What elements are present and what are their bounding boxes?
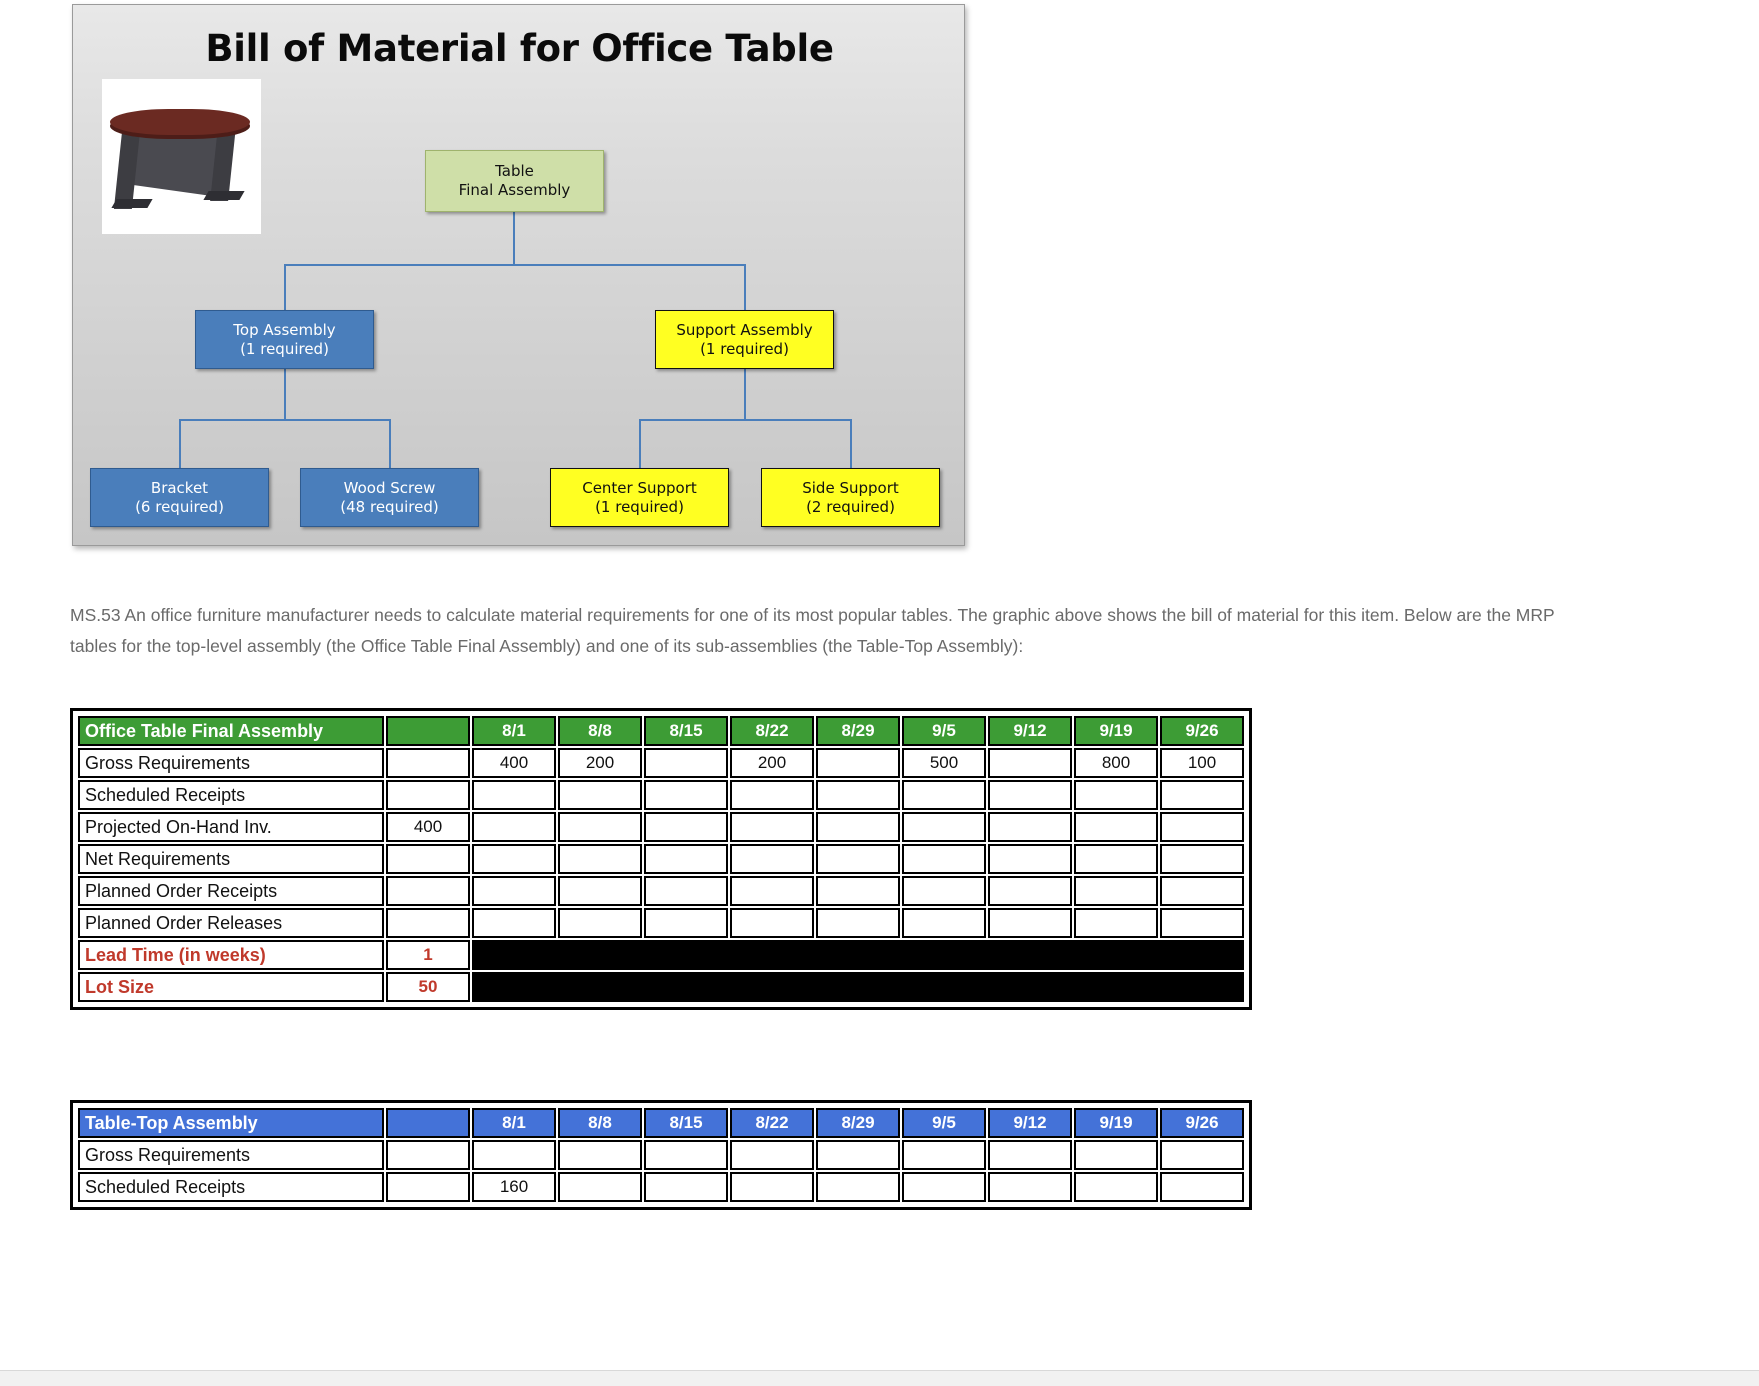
mrp-cell-prior[interactable]	[386, 876, 470, 906]
mrp-cell-9-19[interactable]	[1074, 812, 1158, 842]
node-label-line1: Table	[495, 162, 534, 181]
mrp-cell-prior[interactable]: 400	[386, 812, 470, 842]
mrp-cell-9-19[interactable]	[1074, 908, 1158, 938]
mrp-header-period-9-5: 9/5	[902, 1108, 986, 1138]
node-label-line1: Center Support	[582, 479, 697, 498]
table-photo-top	[110, 109, 250, 135]
mrp-cell-9-5[interactable]: 500	[902, 748, 986, 778]
office-table-photo	[102, 79, 261, 234]
bom-title: Bill of Material for Office Table	[73, 27, 966, 70]
node-label-line2: (6 required)	[135, 498, 224, 517]
mrp-cell-8-8[interactable]: 200	[558, 748, 642, 778]
mrp-cell-9-19[interactable]	[1074, 1172, 1158, 1202]
mrp-cell-9-12[interactable]	[988, 876, 1072, 906]
mrp-blackout-cell	[472, 940, 1244, 970]
node-label-line2: (48 required)	[340, 498, 438, 517]
mrp-header-row: Office Table Final Assembly8/18/88/158/2…	[78, 716, 1244, 746]
mrp-header-period-8-1: 8/1	[472, 1108, 556, 1138]
mrp-cell-9-5[interactable]	[902, 1172, 986, 1202]
bom-diagram-panel: Bill of Material for Office Table Table …	[72, 4, 965, 546]
mrp-cell-9-5[interactable]	[902, 1140, 986, 1170]
mrp-header-period-8-29: 8/29	[816, 1108, 900, 1138]
mrp-row-label: Planned Order Receipts	[78, 876, 384, 906]
mrp-grid: Table-Top Assembly8/18/88/158/228/299/59…	[76, 1106, 1246, 1204]
mrp-cell-8-22[interactable]	[730, 844, 814, 874]
mrp-cell-8-15[interactable]	[644, 1172, 728, 1202]
mrp-cell-9-26[interactable]	[1160, 1140, 1244, 1170]
node-bracket[interactable]: Bracket (6 required)	[90, 468, 269, 527]
node-label-line1: Top Assembly	[233, 321, 335, 340]
mrp-cell-prior[interactable]	[386, 1140, 470, 1170]
mrp-cell-8-29[interactable]	[816, 780, 900, 810]
mrp-cell-9-26[interactable]: 100	[1160, 748, 1244, 778]
mrp-header-period-8-1: 8/1	[472, 716, 556, 746]
mrp-cell-8-15[interactable]	[644, 1140, 728, 1170]
mrp-cell-8-29[interactable]	[816, 1172, 900, 1202]
mrp-param-value[interactable]: 1	[386, 940, 470, 970]
mrp-cell-8-22[interactable]	[730, 1140, 814, 1170]
mrp-cell-9-12[interactable]	[988, 844, 1072, 874]
connector-to-side-support	[850, 419, 852, 469]
mrp-param-row: Lot Size50	[78, 972, 1244, 1002]
mrp-cell-8-29[interactable]	[816, 908, 900, 938]
connector-top-assembly-down	[284, 368, 286, 420]
mrp-header-period-9-19: 9/19	[1074, 716, 1158, 746]
mrp-row: Planned Order Releases	[78, 908, 1244, 938]
connector-root-down	[513, 211, 515, 265]
mrp-header-period-9-12: 9/12	[988, 1108, 1072, 1138]
connector-support-children-bar	[639, 419, 850, 421]
mrp-param-value[interactable]: 50	[386, 972, 470, 1002]
mrp-cell-8-22[interactable]	[730, 780, 814, 810]
mrp-cell-8-8[interactable]	[558, 812, 642, 842]
node-label-line1: Wood Screw	[344, 479, 436, 498]
mrp-param-row: Lead Time (in weeks)1	[78, 940, 1244, 970]
problem-statement: MS.53 An office furniture manufacturer n…	[70, 600, 1560, 662]
mrp-header-period-8-29: 8/29	[816, 716, 900, 746]
mrp-cell-9-26[interactable]	[1160, 1172, 1244, 1202]
mrp-row: Projected On-Hand Inv.400	[78, 812, 1244, 842]
connector-support-assembly-down	[744, 368, 746, 420]
mrp-header-period-8-15: 8/15	[644, 1108, 728, 1138]
mrp-cell-9-26[interactable]	[1160, 876, 1244, 906]
mrp-cell-prior[interactable]	[386, 844, 470, 874]
mrp-cell-prior[interactable]	[386, 1172, 470, 1202]
mrp-row: Gross Requirements	[78, 1140, 1244, 1170]
node-label-line1: Bracket	[151, 479, 208, 498]
mrp-cell-8-29[interactable]	[816, 844, 900, 874]
connector-to-center-support	[639, 419, 641, 469]
mrp-cell-8-29[interactable]	[816, 1140, 900, 1170]
node-wood-screw[interactable]: Wood Screw (48 required)	[300, 468, 479, 527]
mrp-cell-8-15[interactable]	[644, 876, 728, 906]
mrp-grid: Office Table Final Assembly8/18/88/158/2…	[76, 714, 1246, 1004]
mrp-cell-9-5[interactable]	[902, 844, 986, 874]
mrp-cell-8-8[interactable]	[558, 780, 642, 810]
mrp-header-period-9-19: 9/19	[1074, 1108, 1158, 1138]
connector-to-support-assembly	[744, 264, 746, 312]
mrp-cell-8-1[interactable]	[472, 780, 556, 810]
mrp-cell-8-29[interactable]	[816, 812, 900, 842]
mrp-row: Scheduled Receipts160	[78, 1172, 1244, 1202]
mrp-cell-prior[interactable]	[386, 908, 470, 938]
mrp-cell-8-15[interactable]	[644, 780, 728, 810]
mrp-cell-8-22[interactable]	[730, 876, 814, 906]
mrp-cell-9-5[interactable]	[902, 812, 986, 842]
mrp-header-row: Table-Top Assembly8/18/88/158/228/299/59…	[78, 1108, 1244, 1138]
mrp-row: Net Requirements	[78, 844, 1244, 874]
mrp-cell-8-15[interactable]	[644, 812, 728, 842]
mrp-table-table-top-assembly: Table-Top Assembly8/18/88/158/228/299/59…	[70, 1100, 1252, 1210]
node-label-line2: (2 required)	[806, 498, 895, 517]
mrp-header-period-8-22: 8/22	[730, 1108, 814, 1138]
mrp-cell-8-22[interactable]: 200	[730, 748, 814, 778]
mrp-table-final-assembly: Office Table Final Assembly8/18/88/158/2…	[70, 708, 1252, 1010]
mrp-row: Gross Requirements400200200500800100	[78, 748, 1244, 778]
node-center-support[interactable]: Center Support (1 required)	[550, 468, 729, 527]
table-photo-foot-right	[203, 191, 244, 200]
mrp-cell-8-15[interactable]	[644, 844, 728, 874]
mrp-row-label: Projected On-Hand Inv.	[78, 812, 384, 842]
mrp-cell-8-1[interactable]: 400	[472, 748, 556, 778]
mrp-header-period-8-15: 8/15	[644, 716, 728, 746]
mrp-cell-8-15[interactable]	[644, 908, 728, 938]
mrp-header-period-8-8: 8/8	[558, 1108, 642, 1138]
mrp-cell-9-5[interactable]	[902, 876, 986, 906]
mrp-cell-8-8[interactable]	[558, 876, 642, 906]
node-label-line1: Side Support	[802, 479, 899, 498]
mrp-cell-8-8[interactable]	[558, 908, 642, 938]
node-table-final-assembly[interactable]: Table Final Assembly	[425, 150, 604, 212]
mrp-cell-8-29[interactable]	[816, 876, 900, 906]
mrp-cell-8-8[interactable]	[558, 844, 642, 874]
window-bottom-strip	[0, 1370, 1759, 1386]
mrp-header-period-9-5: 9/5	[902, 716, 986, 746]
mrp-cell-9-19[interactable]	[1074, 876, 1158, 906]
mrp-cell-8-1[interactable]	[472, 844, 556, 874]
mrp-param-label: Lead Time (in weeks)	[78, 940, 384, 970]
mrp-header-period-8-8: 8/8	[558, 716, 642, 746]
connector-level2-bar	[284, 264, 745, 266]
mrp-cell-prior[interactable]	[386, 780, 470, 810]
table-photo-foot-left	[111, 199, 152, 208]
mrp-row-label: Gross Requirements	[78, 748, 384, 778]
mrp-header-period-9-26: 9/26	[1160, 1108, 1244, 1138]
mrp-cell-9-19[interactable]: 800	[1074, 748, 1158, 778]
mrp-cell-9-5[interactable]	[902, 780, 986, 810]
mrp-row: Planned Order Receipts	[78, 876, 1244, 906]
mrp-cell-8-22[interactable]	[730, 1172, 814, 1202]
mrp-blackout-cell	[472, 972, 1244, 1002]
mrp-cell-9-12[interactable]	[988, 908, 1072, 938]
mrp-header-prior	[386, 716, 470, 746]
node-label-line2: (1 required)	[240, 340, 329, 359]
mrp-cell-prior[interactable]	[386, 748, 470, 778]
mrp-cell-9-26[interactable]	[1160, 844, 1244, 874]
connector-to-top-assembly	[284, 264, 286, 312]
mrp-cell-9-19[interactable]	[1074, 780, 1158, 810]
node-label-line1: Support Assembly	[676, 321, 812, 340]
mrp-cell-8-29[interactable]	[816, 748, 900, 778]
mrp-cell-9-12[interactable]	[988, 1172, 1072, 1202]
connector-to-bracket	[179, 419, 181, 469]
mrp-param-label: Lot Size	[78, 972, 384, 1002]
node-label-line2: (1 required)	[595, 498, 684, 517]
mrp-cell-8-1[interactable]: 160	[472, 1172, 556, 1202]
mrp-row-label: Planned Order Releases	[78, 908, 384, 938]
mrp-cell-8-15[interactable]	[644, 748, 728, 778]
mrp-cell-8-8[interactable]	[558, 1172, 642, 1202]
mrp-header-period-9-12: 9/12	[988, 716, 1072, 746]
mrp-cell-8-1[interactable]	[472, 812, 556, 842]
mrp-cell-8-8[interactable]	[558, 1140, 642, 1170]
node-label-line2: (1 required)	[700, 340, 789, 359]
mrp-cell-9-12[interactable]	[988, 780, 1072, 810]
mrp-cell-9-26[interactable]	[1160, 780, 1244, 810]
node-label-line2: Final Assembly	[459, 181, 571, 200]
mrp-header-period-9-26: 9/26	[1160, 716, 1244, 746]
mrp-row-label: Net Requirements	[78, 844, 384, 874]
mrp-cell-9-12[interactable]	[988, 812, 1072, 842]
mrp-row-label: Scheduled Receipts	[78, 780, 384, 810]
mrp-cell-9-26[interactable]	[1160, 812, 1244, 842]
mrp-table-name: Table-Top Assembly	[78, 1108, 384, 1138]
mrp-table-name: Office Table Final Assembly	[78, 716, 384, 746]
node-support-assembly[interactable]: Support Assembly (1 required)	[655, 310, 834, 369]
node-side-support[interactable]: Side Support (2 required)	[761, 468, 940, 527]
connector-top-children-bar	[179, 419, 390, 421]
mrp-row: Scheduled Receipts	[78, 780, 1244, 810]
node-top-assembly[interactable]: Top Assembly (1 required)	[195, 310, 374, 369]
mrp-cell-8-1[interactable]	[472, 1140, 556, 1170]
mrp-cell-8-22[interactable]	[730, 812, 814, 842]
mrp-cell-8-1[interactable]	[472, 908, 556, 938]
mrp-header-period-8-22: 8/22	[730, 716, 814, 746]
mrp-cell-9-5[interactable]	[902, 908, 986, 938]
mrp-cell-9-12[interactable]	[988, 1140, 1072, 1170]
mrp-row-label: Scheduled Receipts	[78, 1172, 384, 1202]
connector-to-wood-screw	[389, 419, 391, 469]
mrp-cell-8-22[interactable]	[730, 908, 814, 938]
mrp-cell-9-12[interactable]	[988, 748, 1072, 778]
mrp-cell-9-19[interactable]	[1074, 844, 1158, 874]
mrp-row-label: Gross Requirements	[78, 1140, 384, 1170]
mrp-cell-9-26[interactable]	[1160, 908, 1244, 938]
mrp-cell-8-1[interactable]	[472, 876, 556, 906]
mrp-header-prior	[386, 1108, 470, 1138]
mrp-cell-9-19[interactable]	[1074, 1140, 1158, 1170]
